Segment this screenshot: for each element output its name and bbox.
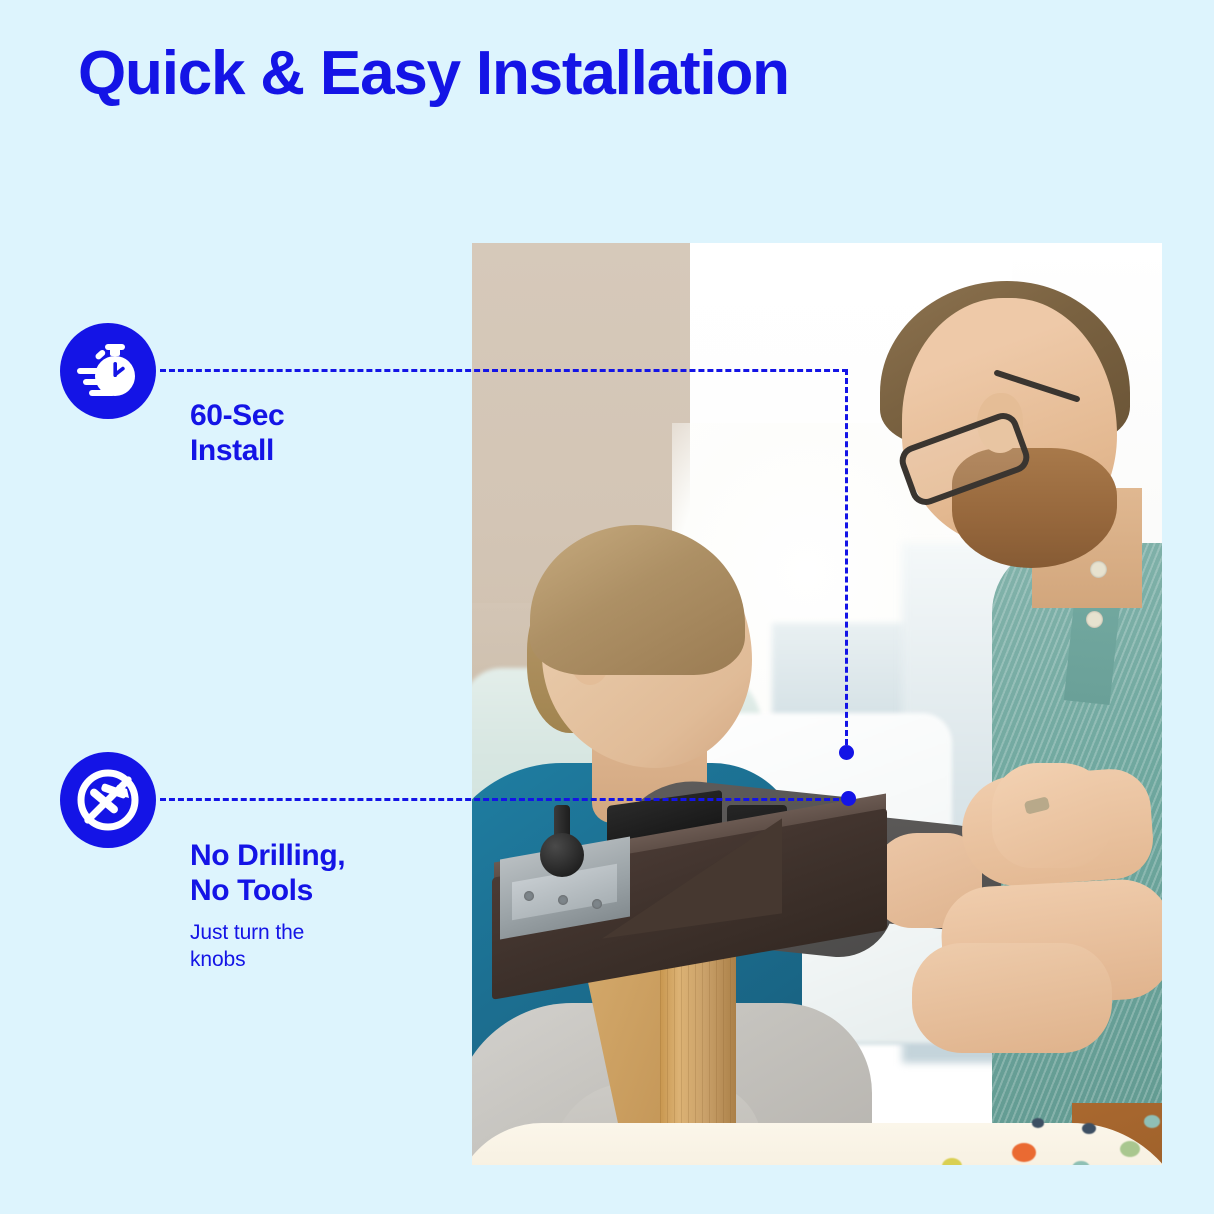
- rail-screw: [524, 891, 534, 901]
- connector-endpoint-2: [841, 791, 856, 806]
- man-hand: [992, 763, 1112, 868]
- duvet: [472, 1123, 1162, 1165]
- rail-screw: [558, 895, 568, 905]
- feature-2-subtext: Just turn the knobs: [190, 919, 345, 974]
- man-forearm-lower: [912, 943, 1112, 1053]
- no-drilling-icon: [60, 752, 156, 848]
- shirt-button: [1086, 611, 1103, 628]
- connector-line-1-horizontal: [160, 369, 848, 372]
- duvet-dot: [1032, 1118, 1044, 1128]
- connector-endpoint-1: [839, 745, 854, 760]
- installation-photo: [472, 243, 1162, 1165]
- feature-2-text: No Drilling, No Tools Just turn the knob…: [190, 838, 345, 973]
- feature-2-heading: No Drilling, No Tools: [190, 838, 345, 909]
- page-title: Quick & Easy Installation: [78, 38, 789, 109]
- connector-line-1-vertical: [845, 369, 848, 754]
- photo-scene: [472, 243, 1162, 1165]
- shirt-button: [1090, 561, 1107, 578]
- duvet-dot: [1144, 1115, 1160, 1128]
- feature-1-text: 60-Sec Install: [190, 398, 284, 469]
- connector-line-2-horizontal: [160, 798, 848, 801]
- feature-1-heading: 60-Sec Install: [190, 398, 284, 469]
- rail-knob: [540, 833, 584, 877]
- duvet-dot: [1012, 1143, 1036, 1162]
- stopwatch-icon: [60, 323, 156, 419]
- duvet-dot: [1120, 1141, 1140, 1157]
- rail-screw: [592, 899, 602, 909]
